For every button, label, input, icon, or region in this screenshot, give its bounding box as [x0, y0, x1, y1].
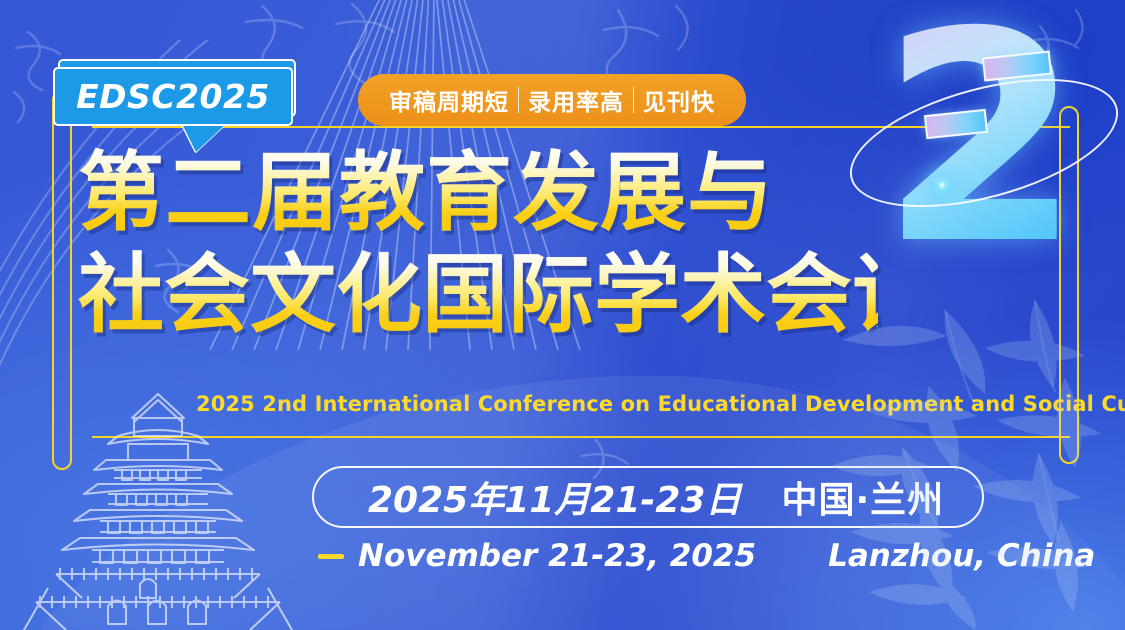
- pagoda-landmark-icon: [22, 392, 294, 630]
- conference-banner: 2 EDSC2025 审稿周期短 录用率高 见刊快 第二届教育发展与 社会文化国…: [0, 0, 1125, 630]
- conference-title: 第二届教育发展与 社会文化国际学术会议: [78, 142, 878, 346]
- promo-item-review-cycle: 审稿周期短: [380, 83, 518, 117]
- dash-accent-icon: [318, 554, 344, 559]
- orbit-spark-icon: [934, 177, 950, 193]
- conference-title-line-2: 社会文化国际学术会议: [78, 244, 878, 346]
- date-chinese: 2025年11月21-23日: [368, 471, 741, 523]
- date-english: November 21-23, 2025: [358, 538, 756, 574]
- promo-highlights-pill: 审稿周期短 录用率高 见刊快: [358, 74, 746, 126]
- promo-item-fast-publication: 见刊快: [634, 83, 724, 117]
- conference-code-label: EDSC2025: [76, 77, 270, 116]
- conference-code-badge: EDSC2025: [53, 67, 293, 126]
- bamboo-leaves-icon: [825, 300, 1125, 630]
- promo-item-acceptance-rate: 录用率高: [519, 83, 633, 117]
- conference-title-line-1: 第二届教育发展与: [78, 142, 878, 244]
